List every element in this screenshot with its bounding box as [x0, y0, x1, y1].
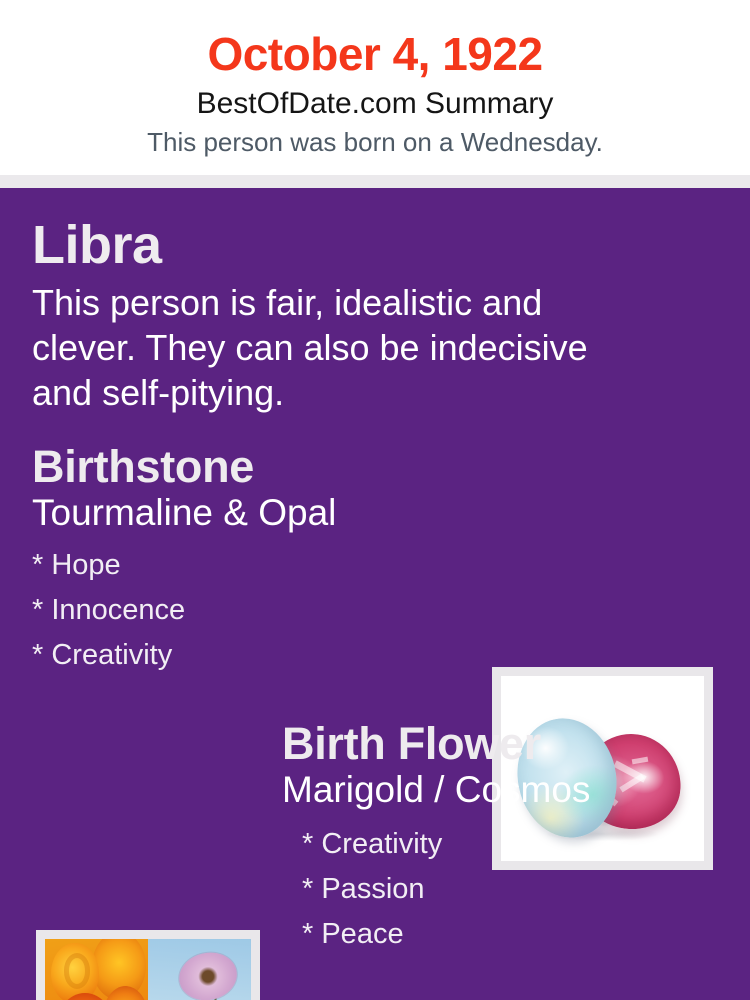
zodiac-section: Libra This person is fair, idealistic an… [0, 188, 750, 415]
summary-panel: Libra This person is fair, idealistic an… [0, 188, 750, 1000]
birthstone-heading: Birthstone [32, 441, 470, 493]
birthstone-trait-list: * Hope * Innocence * Creativity [32, 543, 470, 678]
marigold-photo-half [45, 939, 148, 1000]
list-item: * Innocence [32, 588, 470, 633]
birthstone-names: Tourmaline & Opal [32, 491, 470, 535]
zodiac-sign-name: Libra [32, 214, 750, 276]
birth-day-of-week-note: This person was born on a Wednesday. [0, 125, 750, 159]
list-item: * Passion [302, 867, 732, 912]
birthflower-heading: Birth Flower [282, 718, 732, 770]
page-header: October 4, 1922 BestOfDate.com Summary T… [0, 0, 750, 175]
list-item: * Creativity [302, 822, 732, 867]
birthday-summary-page: October 4, 1922 BestOfDate.com Summary T… [0, 0, 750, 1000]
birthstone-text-block: Birthstone Tourmaline & Opal * Hope * In… [0, 441, 470, 678]
cosmos-photo-half [148, 939, 251, 1000]
zodiac-description: This person is fair, idealistic and clev… [32, 280, 632, 415]
cosmos-bloom-icon [175, 948, 241, 1000]
list-item: * Creativity [32, 633, 470, 678]
birthflower-names: Marigold / Cosmos [282, 768, 732, 812]
list-item: * Peace [302, 912, 732, 957]
birthflower-image [36, 930, 260, 1000]
birthstone-section: Birthstone Tourmaline & Opal * Hope * In… [0, 441, 750, 678]
flower-artwork [45, 939, 251, 1000]
page-title-date: October 4, 1922 [0, 26, 750, 82]
list-item: * Hope [32, 543, 470, 588]
birthflower-text-block: Birth Flower Marigold / Cosmos * Creativ… [282, 718, 732, 957]
site-name: BestOfDate.com Summary [0, 84, 750, 124]
header-divider [0, 175, 750, 188]
birthflower-trait-list: * Creativity * Passion * Peace [282, 822, 732, 957]
